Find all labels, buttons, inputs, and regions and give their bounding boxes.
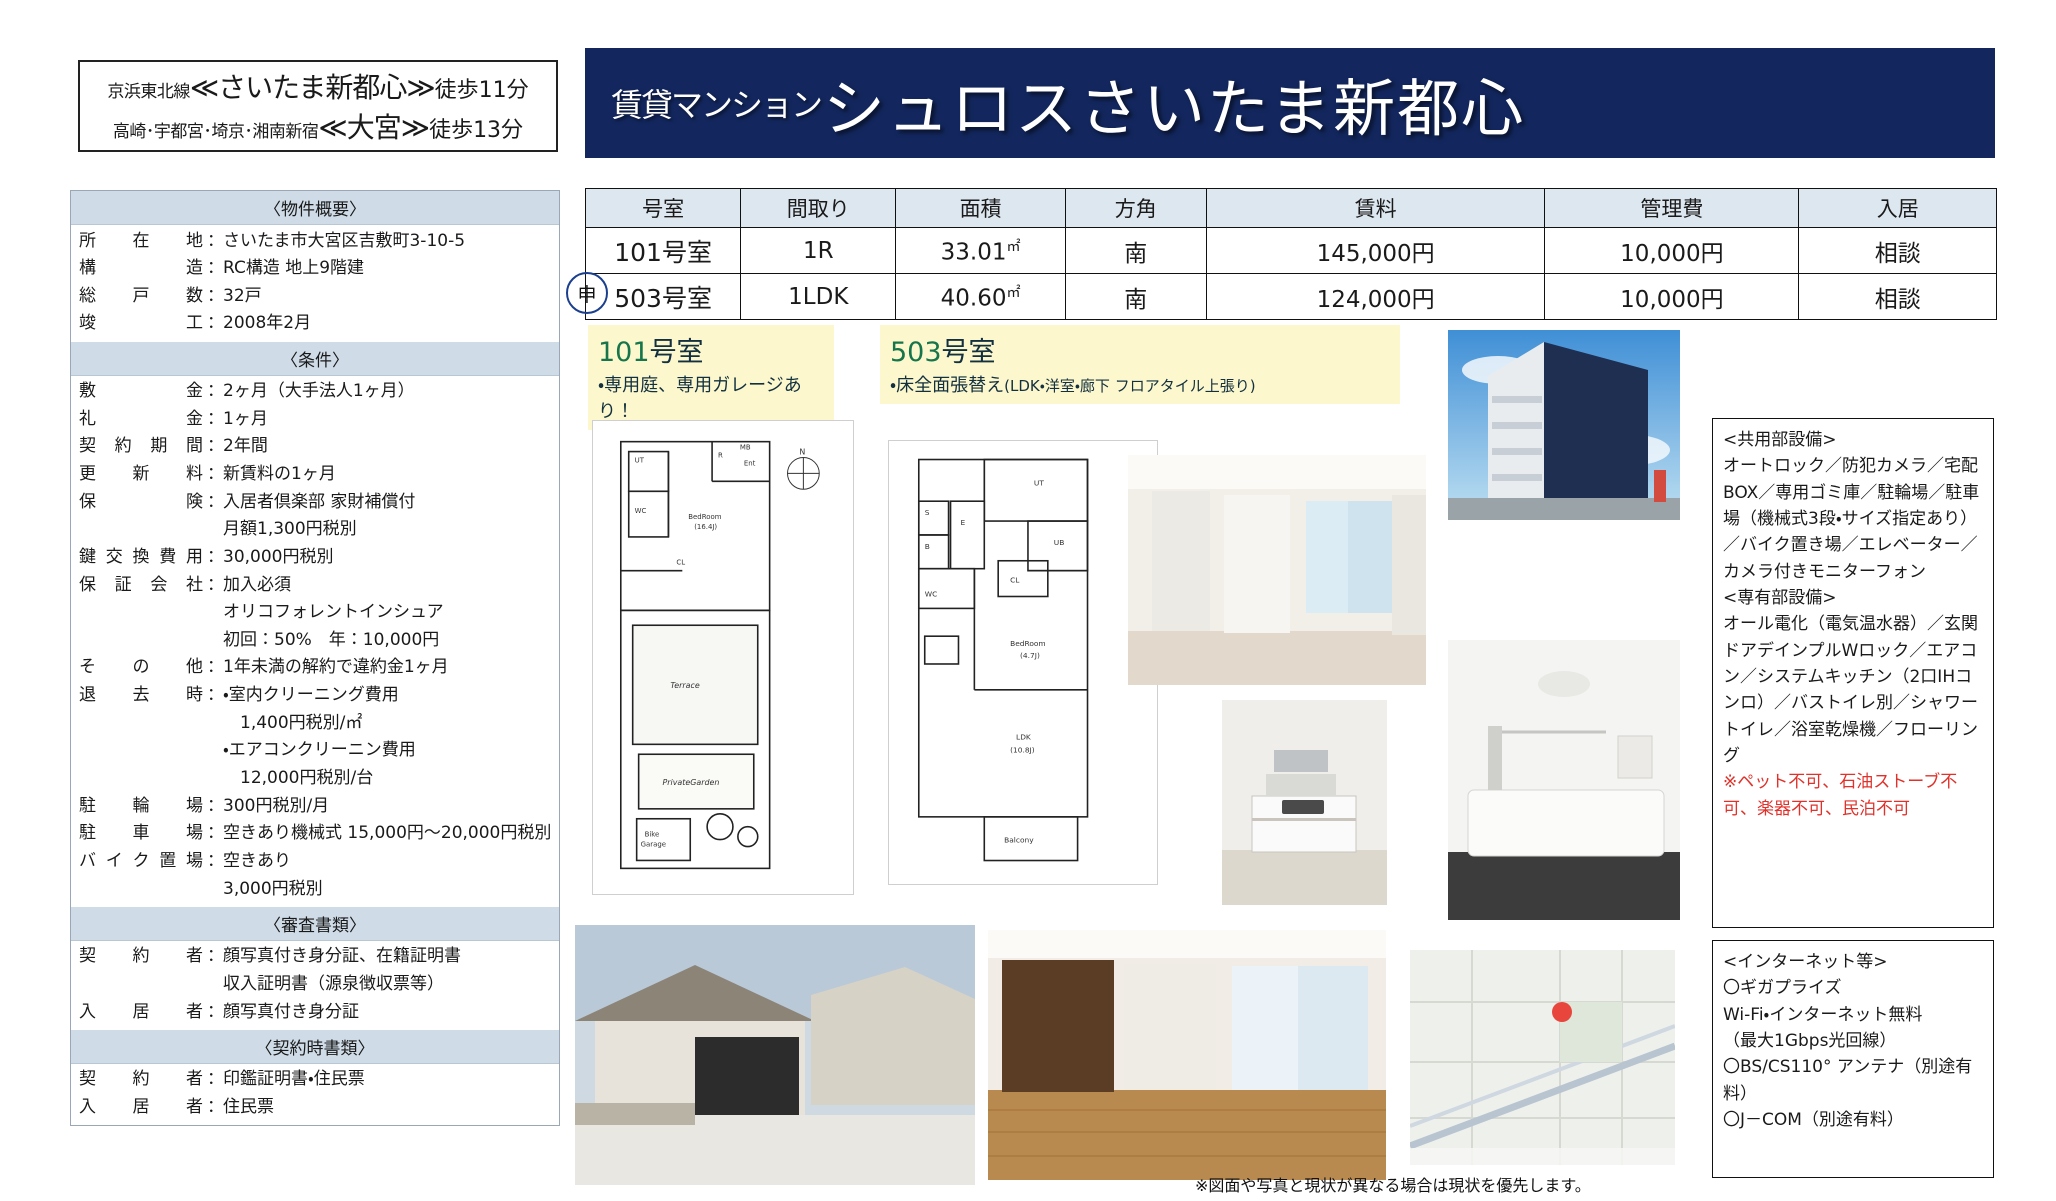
spec-row-colon: ：: [207, 545, 223, 570]
svg-text:R: R: [718, 452, 723, 460]
spec-row-colon: ：: [207, 1095, 223, 1120]
title-banner: 賃貸マンション シュロスさいたま新都心: [585, 48, 1995, 158]
spec-section-heading: 〈条件〉: [71, 342, 559, 376]
floor-plan-503: UT UB WC CL E S B BedRoom (4.7J) LDK (10…: [888, 440, 1158, 885]
units-table-header-cell: 入居: [1799, 189, 1997, 228]
spec-section-body: 敷金：2ヶ月（大手法人1ヶ月）礼金：1ヶ月契約期間：2年間更新料：新賃料の1ヶ月…: [71, 376, 559, 907]
callout-unit-101: 101号室 ・専用庭、専用ガレージあり！: [588, 325, 834, 430]
spec-row-colon: ：: [207, 683, 223, 708]
spec-row-colon: ：: [207, 407, 223, 432]
spec-row: ：収入証明書（源泉徴収票等）: [71, 970, 559, 998]
svg-text:UT: UT: [1034, 478, 1044, 487]
spec-row-colon: ：: [207, 379, 223, 404]
photo-interior-room: [988, 930, 1386, 1180]
photo-garage-exterior: [575, 925, 975, 1185]
unit-rent-cell: 124,000円: [1206, 274, 1545, 320]
spec-row-label: その他: [79, 655, 207, 680]
disclaimer-note: ※図面や写真と現状が異なる場合は現状を優先します。: [1195, 1172, 1591, 1196]
svg-text:Garage: Garage: [641, 841, 666, 849]
spec-row-colon: ：: [207, 849, 223, 874]
unit-area-unit: ㎡: [1006, 285, 1020, 301]
unit-area-value: 33.01: [941, 239, 1007, 265]
spec-row-value: ・室内クリーニング費用: [223, 683, 559, 708]
spec-row: 契約期間：2年間: [71, 433, 559, 461]
spec-row: 駐輪場：300円税別/月: [71, 792, 559, 820]
spec-row-value: 顔写真付き身分証: [223, 1000, 559, 1025]
spec-row: 保険：入居者倶楽部 家財補償付: [71, 488, 559, 516]
unit-number-cell: 101号室: [586, 228, 741, 274]
units-table-header-cell: 賃料: [1206, 189, 1545, 228]
callout-503-note-main: ・床全面張替え: [890, 375, 1004, 396]
access-line-1: 京浜東北線 ≪さいたま新都心≫ 徒歩11分: [90, 66, 546, 106]
spec-row-label: 入居者: [79, 1000, 207, 1025]
spec-section-heading: 〈物件概要〉: [71, 191, 559, 225]
access-line-1-railway: 京浜東北線: [107, 77, 190, 102]
spec-row: 礼金：1ヶ月: [71, 405, 559, 433]
spec-row-label: バイク置場: [79, 849, 207, 874]
spec-row-value: 30,000円税別: [223, 545, 559, 570]
spec-row: ：3,000円税別: [71, 875, 559, 903]
svg-text:UB: UB: [1054, 538, 1065, 547]
spec-row-label: 契約者: [79, 944, 207, 969]
access-line-1-station: ≪さいたま新都心≫: [190, 66, 435, 106]
units-table-row[interactable]: 503号室1LDK40.60㎡南124,000円10,000円相談: [586, 274, 1997, 320]
unit-move-in-cell: 相談: [1799, 274, 1997, 320]
spec-row-value: ・エアコンクリーニン費用: [223, 738, 559, 763]
unit-layout-cell: 1LDK: [741, 274, 896, 320]
facilities-warning-text: ※ペット不可、石油ストーブ不可、楽器不可、民泊不可: [1723, 769, 1983, 822]
facilities-private-text: オール電化（電気温水器）／玄関ドアデインプルWロック／エアコン／システムキッチン…: [1723, 611, 1983, 769]
spec-row-value: 3,000円税別: [223, 877, 559, 902]
unit-direction-cell: 南: [1065, 274, 1206, 320]
facilities-common-heading: <共用部設備>: [1723, 427, 1983, 453]
spec-row: ：月額1,300円税別: [71, 516, 559, 544]
spec-row: 鍵交換費用：30,000円税別: [71, 543, 559, 571]
callout-101-number: 101: [598, 337, 650, 368]
spec-row-colon: ：: [207, 1067, 223, 1092]
facilities-private-heading: <専有部設備>: [1723, 585, 1983, 611]
spec-row-value: 顔写真付き身分証、在籍証明書: [223, 944, 559, 969]
units-table-header-cell: 号室: [586, 189, 741, 228]
spec-row-value: 収入証明書（源泉徴収票等）: [223, 972, 559, 997]
spec-section-heading: 〈審査書類〉: [71, 907, 559, 941]
spec-row-colon: ：: [207, 573, 223, 598]
spec-row-value: 住民票: [223, 1095, 559, 1120]
floor-plan-101: BedRoom (16.4J) UT WC R Ent MB CL Terrac…: [592, 420, 854, 895]
spec-row-label: 総戸数: [79, 284, 207, 309]
svg-text:Balcony: Balcony: [1004, 836, 1034, 845]
spec-row-value: 12,000円税別/台: [223, 766, 559, 791]
callout-503-suffix: 号室: [942, 337, 996, 368]
spec-row-value: 300円税別/月: [223, 794, 559, 819]
spec-row: バイク置場：空きあり: [71, 847, 559, 875]
svg-text:BedRoom: BedRoom: [688, 513, 721, 521]
spec-row-label: 鍵交換費用: [79, 545, 207, 570]
spec-section-body: 契約者：顔写真付き身分証、在籍証明書：収入証明書（源泉徴収票等）入居者：顔写真付…: [71, 941, 559, 1030]
spec-row-colon: ：: [207, 944, 223, 969]
spec-row: 入居者：顔写真付き身分証: [71, 998, 559, 1026]
svg-text:BedRoom: BedRoom: [1010, 639, 1046, 648]
callout-503-note: ・床全面張替え(LDK・洋室・廊下 フロアタイル上張り): [890, 371, 1390, 397]
units-table-header-cell: 管理費: [1545, 189, 1799, 228]
facilities-common-text: オートロック／防犯カメラ／宅配BOX／専用ゴミ庫／駐輪場／駐車場（機械式3段・サ…: [1723, 453, 1983, 585]
flyer-page: 京浜東北線 ≪さいたま新都心≫ 徒歩11分 高崎･宇都宮･埼京･湘南新宿 ≪大宮…: [0, 0, 2056, 1201]
internet-item: 〇ギガプライズ: [1723, 975, 1983, 1001]
spec-row: ：初回：50% 年：10,000円: [71, 626, 559, 654]
spec-row-colon: ：: [207, 229, 223, 254]
spec-row: 総戸数：32戸: [71, 282, 559, 310]
spec-row-label: 保険: [79, 490, 207, 515]
spec-row: 保証会社：加入必須: [71, 571, 559, 599]
spec-row-value: オリコフォレントインシュア: [223, 600, 559, 625]
spec-row: 契約者：印鑑証明書・住民票: [71, 1066, 559, 1094]
units-table-header-cell: 方角: [1065, 189, 1206, 228]
svg-text:CL: CL: [676, 559, 685, 567]
spec-row-colon: ：: [207, 821, 223, 846]
svg-text:WC: WC: [925, 589, 938, 598]
applied-badge: 申: [566, 272, 608, 314]
spec-row-label: 更新料: [79, 462, 207, 487]
spec-row: ：オリコフォレントインシュア: [71, 599, 559, 627]
callout-101-suffix: 号室: [650, 337, 704, 368]
callout-101-title: 101号室: [598, 330, 824, 369]
spec-row-value: 2年間: [223, 434, 559, 459]
spec-row: 竣工：2008年2月: [71, 310, 559, 338]
unit-area-value: 40.60: [941, 285, 1007, 311]
unit-move-in-cell: 相談: [1799, 228, 1997, 274]
spec-row-label: 入居者: [79, 1095, 207, 1120]
svg-text:(16.4J): (16.4J): [694, 523, 717, 531]
callout-101-note: ・専用庭、専用ガレージあり！: [598, 371, 824, 423]
spec-row: 所在地：さいたま市大宮区吉敷町3-10-5: [71, 227, 559, 255]
svg-text:(4.7J): (4.7J): [1020, 651, 1040, 660]
svg-text:LDK: LDK: [1016, 732, 1032, 741]
spec-row-value: 入居者倶楽部 家財補償付: [223, 490, 559, 515]
photo-living-room: [1128, 455, 1426, 685]
spec-row: ： 1,400円税別/㎡: [71, 709, 559, 737]
callout-503-note-sub: (LDK・洋室・廊下 フロアタイル上張り): [1004, 377, 1255, 395]
spec-row-label: 構造: [79, 256, 207, 281]
spec-row-colon: ：: [207, 434, 223, 459]
spec-row-label: 保証会社: [79, 573, 207, 598]
spec-row: 敷金：2ヶ月（大手法人1ヶ月）: [71, 378, 559, 406]
svg-text:Terrace: Terrace: [670, 681, 699, 690]
svg-text:Ent: Ent: [744, 459, 756, 467]
banner-property-name: シュロスさいたま新都心: [823, 58, 1525, 148]
units-table-header-cell: 間取り: [741, 189, 896, 228]
svg-text:B: B: [925, 542, 930, 551]
unit-admin-fee-cell: 10,000円: [1545, 228, 1799, 274]
units-table-header-cell: 面積: [896, 189, 1065, 228]
spec-row: 契約者：顔写真付き身分証、在籍証明書: [71, 943, 559, 971]
spec-row-colon: ：: [207, 284, 223, 309]
unit-area-cell: 40.60㎡: [896, 274, 1065, 320]
property-spec-table: 〈物件概要〉所在地：さいたま市大宮区吉敷町3-10-5構造：RC構造 地上9階建…: [70, 190, 560, 1126]
svg-text:WC: WC: [635, 507, 647, 515]
spec-row: 入居者：住民票: [71, 1093, 559, 1121]
access-line-2-walk: 徒歩13分: [429, 112, 523, 144]
unit-direction-cell: 南: [1065, 228, 1206, 274]
internet-item: （最大1Gbps光回線）: [1723, 1028, 1983, 1054]
spec-row-value: 空きあり機械式 15,000円～20,000円税別: [223, 821, 559, 846]
svg-text:(10.8J): (10.8J): [1010, 745, 1035, 754]
spec-row-value: 1ヶ月: [223, 407, 559, 432]
spec-section-heading: 〈契約時書類〉: [71, 1030, 559, 1064]
spec-row: ： 12,000円税別/台: [71, 765, 559, 793]
unit-admin-fee-cell: 10,000円: [1545, 274, 1799, 320]
spec-row-colon: ：: [207, 490, 223, 515]
unit-area-cell: 33.01㎡: [896, 228, 1065, 274]
callout-503-title: 503号室: [890, 330, 1390, 369]
spec-row-label: 退去時: [79, 683, 207, 708]
spec-row-colon: ：: [207, 256, 223, 281]
access-line-1-walk: 徒歩11分: [435, 72, 529, 104]
spec-row: 構造：RC構造 地上9階建: [71, 255, 559, 283]
spec-row-label: 礼金: [79, 407, 207, 432]
svg-text:Bike: Bike: [645, 831, 660, 839]
unit-area-unit: ㎡: [1006, 239, 1020, 255]
internet-item: Wi-Fi・インターネット無料: [1723, 1002, 1983, 1028]
spec-row: 退去時：・室内クリーニング費用: [71, 682, 559, 710]
internet-panel: <インターネット等> 〇ギガプライズWi-Fi・インターネット無料（最大1Gbp…: [1712, 940, 1994, 1178]
spec-row: ：・エアコンクリーニン費用: [71, 737, 559, 765]
svg-text:N: N: [799, 448, 805, 457]
station-access-box: 京浜東北線 ≪さいたま新都心≫ 徒歩11分 高崎･宇都宮･埼京･湘南新宿 ≪大宮…: [78, 60, 558, 152]
svg-text:UT: UT: [635, 457, 645, 465]
unit-rent-cell: 145,000円: [1206, 228, 1545, 274]
svg-text:S: S: [925, 508, 930, 517]
spec-row-label: 契約期間: [79, 434, 207, 459]
spec-row-colon: ：: [207, 1000, 223, 1025]
spec-row: その他：1年未満の解約で違約金1ヶ月: [71, 654, 559, 682]
spec-row-value: 1,400円税別/㎡: [223, 711, 559, 736]
spec-section-body: 所在地：さいたま市大宮区吉敷町3-10-5構造：RC構造 地上9階建総戸数：32…: [71, 225, 559, 342]
units-table-row[interactable]: 101号室1R33.01㎡南145,000円10,000円相談: [586, 228, 1997, 274]
facilities-panel: <共用部設備> オートロック／防犯カメラ／宅配BOX／専用ゴミ庫／駐輪場／駐車場…: [1712, 418, 1994, 928]
callout-unit-503: 503号室 ・床全面張替え(LDK・洋室・廊下 フロアタイル上張り): [880, 325, 1400, 404]
spec-row-value: 初回：50% 年：10,000円: [223, 628, 559, 653]
spec-row-colon: ：: [207, 794, 223, 819]
spec-row-value: RC構造 地上9階建: [223, 256, 559, 281]
photo-kitchen: [1222, 700, 1387, 905]
photo-location-map: [1410, 950, 1675, 1165]
internet-item: 〇BS/CS110° アンテナ（別途有料）: [1723, 1054, 1983, 1107]
spec-section-body: 契約者：印鑑証明書・住民票入居者：住民票: [71, 1064, 559, 1125]
unit-number-cell: 503号室: [586, 274, 741, 320]
units-table: 号室間取り面積方角賃料管理費入居101号室1R33.01㎡南145,000円10…: [585, 188, 1997, 320]
spec-row-value: 32戸: [223, 284, 559, 309]
spec-row-colon: ：: [207, 655, 223, 680]
banner-property-kind: 賃貸マンション: [611, 80, 821, 126]
photo-building-exterior: [1448, 330, 1680, 520]
unit-layout-cell: 1R: [741, 228, 896, 274]
photo-bathroom: [1448, 640, 1680, 920]
svg-text:E: E: [960, 518, 965, 527]
spec-row: 駐車場：空きあり機械式 15,000円～20,000円税別: [71, 820, 559, 848]
spec-row-value: 空きあり: [223, 849, 559, 874]
svg-text:MB: MB: [740, 444, 751, 452]
access-line-2-station: ≪大宮≫: [318, 106, 429, 146]
spec-row-value: 2008年2月: [223, 311, 559, 336]
spec-row-label: 駐輪場: [79, 794, 207, 819]
access-line-2: 高崎･宇都宮･埼京･湘南新宿 ≪大宮≫ 徒歩13分: [90, 106, 546, 146]
spec-row-colon: ：: [207, 311, 223, 336]
spec-row-value: 月額1,300円税別: [223, 517, 559, 542]
internet-item: 〇J－COM（別途有料）: [1723, 1107, 1983, 1133]
spec-row-value: 印鑑証明書・住民票: [223, 1067, 559, 1092]
spec-row-label: 契約者: [79, 1067, 207, 1092]
spec-row-value: さいたま市大宮区吉敷町3-10-5: [223, 229, 559, 254]
spec-row-value: 2ヶ月（大手法人1ヶ月）: [223, 379, 559, 404]
spec-row-label: 所在地: [79, 229, 207, 254]
internet-item-list: 〇ギガプライズWi-Fi・インターネット無料（最大1Gbps光回線）〇BS/CS…: [1723, 975, 1983, 1133]
spec-row-label: 竣工: [79, 311, 207, 336]
spec-row-value: 1年未満の解約で違約金1ヶ月: [223, 655, 559, 680]
spec-row: 更新料：新賃料の1ヶ月: [71, 460, 559, 488]
svg-text:CL: CL: [1010, 576, 1020, 585]
spec-row-label: 駐車場: [79, 821, 207, 846]
spec-row-label: 敷金: [79, 379, 207, 404]
spec-row-value: 新賃料の1ヶ月: [223, 462, 559, 487]
spec-row-colon: ：: [207, 462, 223, 487]
svg-text:PrivateGarden: PrivateGarden: [662, 778, 719, 787]
access-line-2-railway: 高崎･宇都宮･埼京･湘南新宿: [113, 117, 319, 142]
units-table-header-row: 号室間取り面積方角賃料管理費入居: [586, 189, 1997, 228]
callout-503-number: 503: [890, 337, 942, 368]
spec-row-value: 加入必須: [223, 573, 559, 598]
internet-heading: <インターネット等>: [1723, 949, 1983, 975]
